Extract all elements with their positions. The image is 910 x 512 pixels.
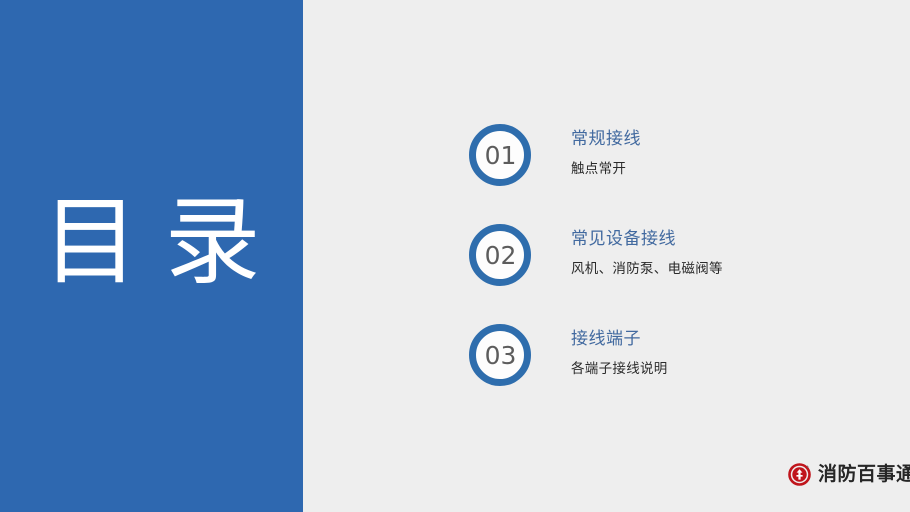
page-title: 目录 bbox=[0, 186, 303, 298]
agenda-item-text: 常见设备接线 风机、消防泵、电磁阀等 bbox=[571, 227, 871, 279]
agenda-item-text: 常规接线 触点常开 bbox=[571, 127, 871, 179]
agenda-item-subtitle: 触点常开 bbox=[571, 159, 871, 179]
agenda-item-03[interactable]: 03 接线端子 各端子接线说明 bbox=[469, 324, 889, 386]
agenda-item-heading: 常规接线 bbox=[571, 127, 871, 151]
agenda-item-01[interactable]: 01 常规接线 触点常开 bbox=[469, 124, 889, 186]
agenda-item-text: 接线端子 各端子接线说明 bbox=[571, 327, 871, 379]
agenda-number-label: 02 bbox=[484, 243, 517, 268]
agenda-number-label: 03 bbox=[484, 343, 517, 368]
title-panel: 目录 bbox=[0, 0, 303, 512]
brand-logo: 消防百事通 bbox=[788, 462, 910, 486]
agenda-item-heading: 常见设备接线 bbox=[571, 227, 871, 251]
fire-safety-logo-icon bbox=[788, 462, 812, 486]
brand-logo-text: 消防百事通 bbox=[818, 462, 910, 486]
agenda-list: 01 常规接线 触点常开 02 常见设备接线 风机、消防泵、电磁阀等 03 接线… bbox=[469, 124, 889, 386]
agenda-number-badge: 01 bbox=[469, 124, 531, 186]
agenda-number-badge: 02 bbox=[469, 224, 531, 286]
agenda-item-subtitle: 各端子接线说明 bbox=[571, 359, 871, 379]
agenda-item-02[interactable]: 02 常见设备接线 风机、消防泵、电磁阀等 bbox=[469, 224, 889, 286]
slide-canvas: 目录 01 常规接线 触点常开 02 常见设备接线 风机、消防泵、电磁阀等 03 bbox=[0, 0, 910, 512]
agenda-number-badge: 03 bbox=[469, 324, 531, 386]
agenda-item-heading: 接线端子 bbox=[571, 327, 871, 351]
agenda-item-subtitle: 风机、消防泵、电磁阀等 bbox=[571, 259, 871, 279]
agenda-number-label: 01 bbox=[484, 143, 517, 168]
